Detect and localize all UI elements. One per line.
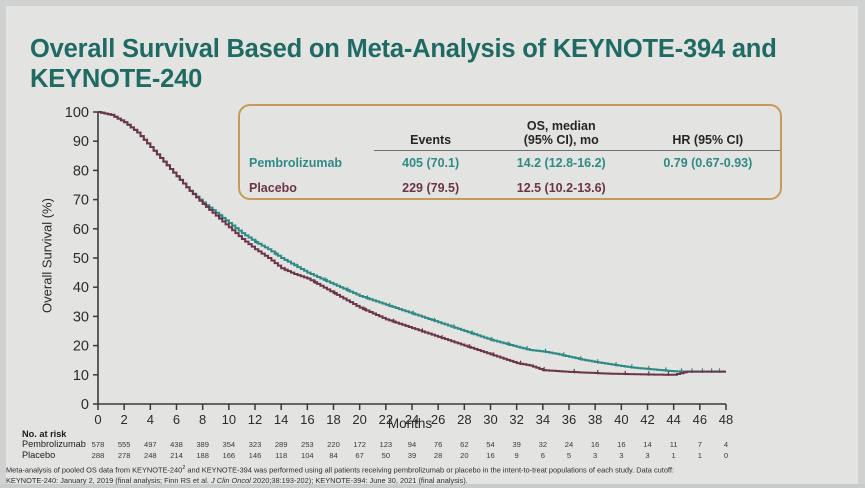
y-tick-label: 50 [73, 251, 89, 267]
summary-header-hr: HR (95% CI) [636, 104, 780, 151]
at-risk-value: 4 [713, 440, 739, 449]
at-risk-value: 50 [373, 451, 399, 460]
x-tick-label: 48 [719, 412, 733, 427]
at-risk-value: 6 [530, 451, 556, 460]
at-risk-value: 16 [582, 440, 608, 449]
footnote: Meta-analysis of pooled OS data from KEY… [6, 463, 858, 486]
x-tick-label: 4 [147, 412, 154, 427]
x-tick-label: 32 [509, 412, 523, 427]
y-tick-label: 90 [73, 134, 89, 150]
x-tick-label: 14 [274, 412, 288, 427]
at-risk-value: 54 [478, 440, 504, 449]
at-risk-value: 146 [242, 451, 268, 460]
at-risk-row: Pembrolizumab578555497438389354323289253… [22, 439, 762, 450]
at-risk-value: 438 [164, 440, 190, 449]
summary-stats-table: Events OS, median (95% CI), mo HR (95% C… [240, 104, 780, 200]
summary-events-pembrolizumab: 405 (70.1) [374, 151, 486, 176]
at-risk-value: 9 [504, 451, 530, 460]
at-risk-value: 3 [635, 451, 661, 460]
km-chart-svg: 0102030405060708090100024681012141618202… [0, 0, 865, 488]
summary-header-events: Events [374, 104, 486, 151]
at-risk-value: 20 [451, 451, 477, 460]
at-risk-value: 7 [687, 440, 713, 449]
y-tick-label: 40 [73, 280, 89, 296]
x-tick-label: 12 [248, 412, 262, 427]
at-risk-value: 32 [530, 440, 556, 449]
at-risk-value: 94 [399, 440, 425, 449]
x-tick-label: 34 [536, 412, 550, 427]
footnote-1b: and KEYNOTE-394 was performed using all … [185, 465, 674, 474]
y-tick-label: 0 [81, 397, 89, 413]
x-tick-label: 10 [222, 412, 236, 427]
footnote-journal: J Clin Oncol [211, 476, 251, 485]
y-tick-label: 70 [73, 193, 89, 209]
y-tick-label: 20 [73, 339, 89, 355]
at-risk-value: 253 [294, 440, 320, 449]
x-tick-label: 8 [199, 412, 206, 427]
summary-header-os-line2: (95% CI), mo [524, 133, 599, 147]
at-risk-value: 28 [425, 451, 451, 460]
at-risk-value: 39 [399, 451, 425, 460]
at-risk-value: 248 [137, 451, 163, 460]
at-risk-value: 84 [321, 451, 347, 460]
y-tick-label: 30 [73, 309, 89, 325]
at-risk-value: 288 [85, 451, 111, 460]
at-risk-value: 67 [347, 451, 373, 460]
at-risk-value: 578 [85, 440, 111, 449]
at-risk-value: 11 [661, 440, 687, 449]
summary-hr-placebo [636, 176, 780, 200]
at-risk-value: 188 [190, 451, 216, 460]
x-tick-label: 0 [94, 412, 101, 427]
summary-os-pembrolizumab: 14.2 (12.8-16.2) [487, 151, 636, 176]
summary-hr-pembrolizumab: 0.79 (0.67-0.93) [636, 151, 780, 176]
summary-events-placebo: 229 (79.5) [374, 176, 486, 200]
summary-header-os-line1: OS, median [527, 119, 596, 133]
summary-os-placebo: 12.5 (10.2-13.6) [487, 176, 636, 200]
x-tick-label: 36 [562, 412, 576, 427]
summary-header-row: Events OS, median (95% CI), mo HR (95% C… [240, 104, 780, 151]
at-risk-row: Placebo288278248214188166146118104846750… [22, 450, 762, 461]
x-tick-label: 38 [588, 412, 602, 427]
at-risk-value: 62 [451, 440, 477, 449]
x-tick-label: 6 [173, 412, 180, 427]
y-tick-label: 60 [73, 222, 89, 238]
at-risk-value: 24 [556, 440, 582, 449]
footnote-1a: Meta-analysis of pooled OS data from KEY… [6, 465, 182, 474]
footnote-2a: KEYNOTE-240: January 2, 2019 (final anal… [6, 476, 211, 485]
y-tick-label: 10 [73, 368, 89, 384]
at-risk-value: 3 [608, 451, 634, 460]
at-risk-value: 3 [582, 451, 608, 460]
at-risk-value: 323 [242, 440, 268, 449]
summary-arm-placebo: Placebo [240, 176, 374, 200]
summary-header-blank [240, 104, 374, 151]
at-risk-value: 39 [504, 440, 530, 449]
at-risk-value: 278 [111, 451, 137, 460]
at-risk-value: 172 [347, 440, 373, 449]
at-risk-value: 104 [294, 451, 320, 460]
at-risk-value: 389 [190, 440, 216, 449]
at-risk-value: 123 [373, 440, 399, 449]
at-risk-value: 118 [268, 451, 294, 460]
x-tick-label: 46 [693, 412, 707, 427]
at-risk-value: 497 [137, 440, 163, 449]
at-risk-value: 1 [687, 451, 713, 460]
at-risk-value: 5 [556, 451, 582, 460]
footnote-line-2: KEYNOTE-240: January 2, 2019 (final anal… [6, 476, 858, 486]
at-risk-value: 14 [635, 440, 661, 449]
at-risk-value: 1 [661, 451, 687, 460]
x-axis-title: Months [330, 416, 490, 431]
at-risk-value: 555 [111, 440, 137, 449]
y-axis-title: Overall Survival (%) [40, 171, 55, 341]
y-tick-label: 80 [73, 163, 89, 179]
at-risk-value: 166 [216, 451, 242, 460]
footnote-line-1: Meta-analysis of pooled OS data from KEY… [6, 463, 858, 476]
summary-row-pembrolizumab: Pembrolizumab 405 (70.1) 14.2 (12.8-16.2… [240, 151, 780, 176]
y-tick-label: 100 [65, 105, 89, 121]
at-risk-value: 16 [478, 451, 504, 460]
km-chart: 0102030405060708090100024681012141618202… [0, 0, 865, 488]
at-risk-header: No. at risk [22, 429, 66, 439]
x-tick-label: 40 [614, 412, 628, 427]
at-risk-value: 76 [425, 440, 451, 449]
x-tick-label: 42 [640, 412, 654, 427]
x-tick-label: 44 [666, 412, 680, 427]
summary-row-placebo: Placebo 229 (79.5) 12.5 (10.2-13.6) [240, 176, 780, 200]
summary-header-os: OS, median (95% CI), mo [487, 104, 636, 151]
footnote-2b: 2020;38:193-202); KEYNOTE-394: June 30, … [251, 476, 468, 485]
at-risk-value: 214 [164, 451, 190, 460]
slide-canvas: Overall Survival Based on Meta-Analysis … [0, 0, 865, 488]
at-risk-value: 0 [713, 451, 739, 460]
at-risk-value: 16 [608, 440, 634, 449]
at-risk-value: 220 [321, 440, 347, 449]
summary-arm-pembrolizumab: Pembrolizumab [240, 151, 374, 176]
at-risk-value: 289 [268, 440, 294, 449]
x-tick-label: 16 [300, 412, 314, 427]
x-tick-label: 2 [121, 412, 128, 427]
at-risk-table: Pembrolizumab578555497438389354323289253… [22, 439, 762, 461]
at-risk-value: 354 [216, 440, 242, 449]
